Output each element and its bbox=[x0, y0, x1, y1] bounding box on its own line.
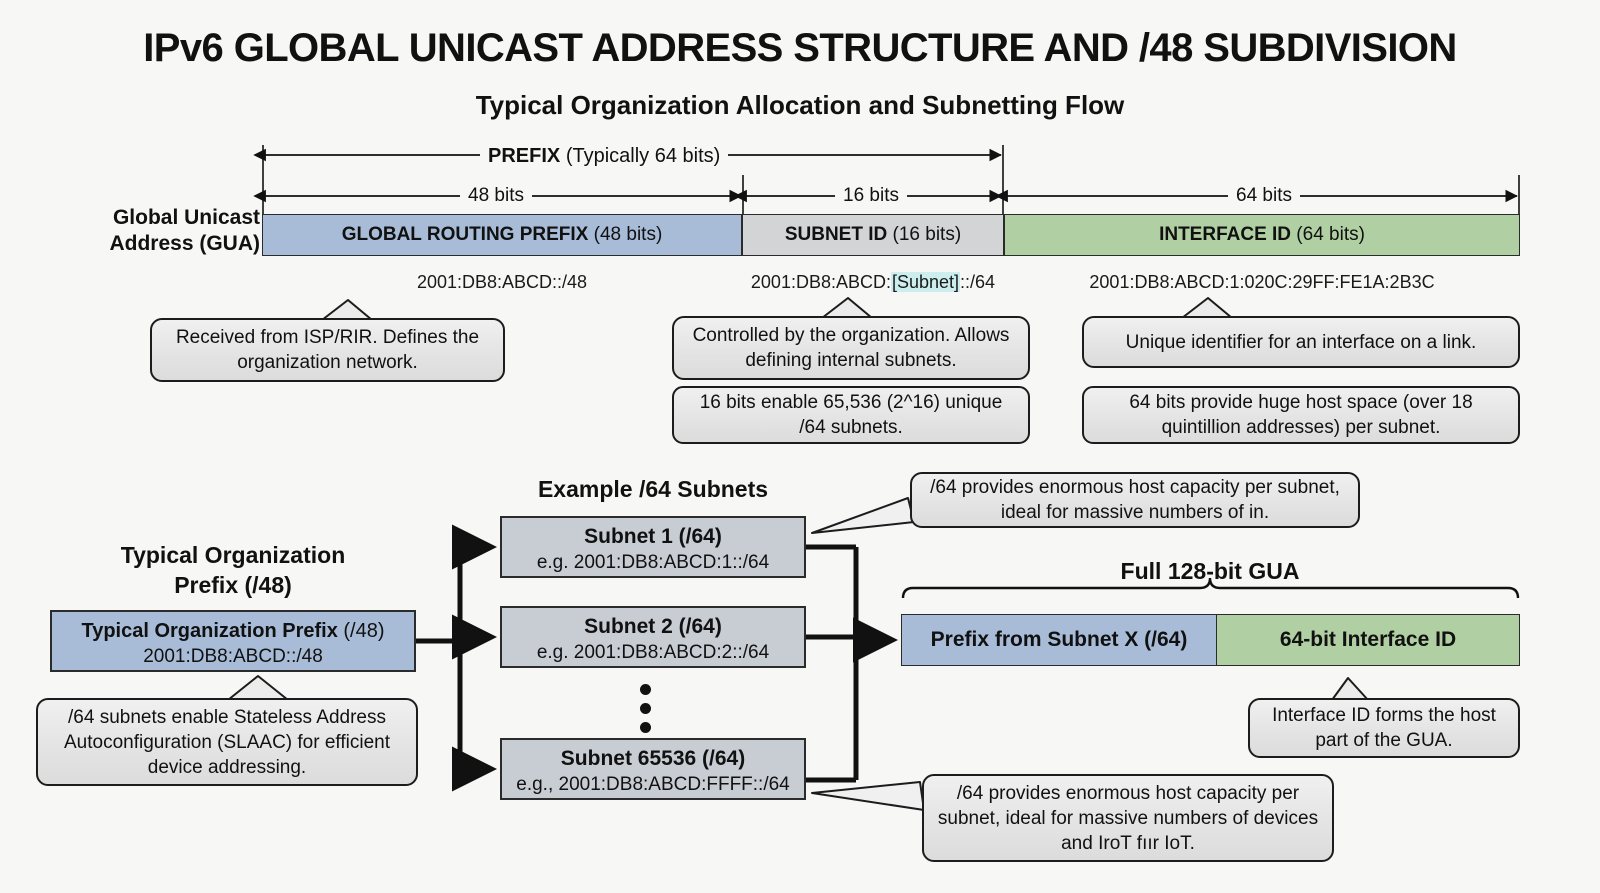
address-subnet-suffix: ::/64 bbox=[960, 272, 995, 292]
page-subtitle: Typical Organization Allocation and Subn… bbox=[0, 90, 1600, 121]
subnet-node-65536[interactable]: Subnet 65536 (/64) e.g., 2001:DB8:ABCD:F… bbox=[500, 738, 806, 800]
full-gua-prefix-segment[interactable]: Prefix from Subnet X (/64) bbox=[901, 614, 1217, 666]
callout-interface-host-part: Interface ID forms the host part of the … bbox=[1248, 698, 1520, 758]
example-subnets-title: Example /64 Subnets bbox=[500, 476, 806, 503]
subnet-node-title: Subnet 2 (/64) bbox=[502, 614, 804, 640]
field-label-bold: SUBNET ID bbox=[785, 224, 887, 245]
callout-subnet-id-control: Controlled by the organization. Allows d… bbox=[672, 316, 1030, 380]
gua-row-label-line2: Address (GUA) bbox=[60, 231, 260, 257]
full-gua-title: Full 128-bit GUA bbox=[900, 558, 1520, 585]
callout-interface-id-space: 64 bits provide huge host space (over 18… bbox=[1082, 386, 1520, 444]
address-subnet-prefix: 2001:DB8:ABCD: bbox=[751, 272, 891, 292]
address-subnet-placeholder: [Subnet] bbox=[891, 272, 960, 292]
callout-subnet-capacity-top: /64 provides enormous host capacity per … bbox=[910, 472, 1360, 528]
callout-slaac: /64 subnets enable Stateless Address Aut… bbox=[36, 698, 418, 786]
subnet-node-address: e.g., 2001:DB8:ABCD:FFFF::/64 bbox=[502, 772, 804, 797]
address-global-routing-prefix: 2001:DB8:ABCD::/48 bbox=[262, 272, 742, 293]
subnet-node-address: e.g. 2001:DB8:ABCD:1::/64 bbox=[502, 550, 804, 575]
diagram-canvas: IPv6 GLOBAL UNICAST ADDRESS STRUCTURE AN… bbox=[0, 0, 1600, 893]
field-label-bold: INTERFACE ID bbox=[1159, 224, 1291, 245]
org-prefix-title-line1: Typical Organization bbox=[50, 540, 416, 570]
dim-prefix-label: PREFIX (Typically 64 bits) bbox=[480, 145, 728, 168]
gua-row-label: Global Unicast Address (GUA) bbox=[60, 205, 260, 257]
field-subnet-id[interactable]: SUBNET ID (16 bits) bbox=[742, 214, 1004, 256]
full-gua-interface-segment[interactable]: 64-bit Interface ID bbox=[1217, 614, 1520, 666]
address-subnet-id: 2001:DB8:ABCD:[Subnet]::/64 bbox=[700, 272, 1046, 293]
field-label-bold: GLOBAL ROUTING PREFIX bbox=[342, 224, 589, 245]
callout-subnet-capacity-bottom: /64 provides enormous host capacity per … bbox=[922, 774, 1334, 862]
org-prefix-node[interactable]: Typical Organization Prefix (/48) 2001:D… bbox=[50, 610, 416, 672]
dim-64bits: 64 bits bbox=[1228, 185, 1300, 207]
callout-subnet-id-count: 16 bits enable 65,536 (2^16) unique /64 … bbox=[672, 386, 1030, 444]
org-prefix-title-line2: Prefix (/48) bbox=[50, 570, 416, 600]
page-title: IPv6 GLOBAL UNICAST ADDRESS STRUCTURE AN… bbox=[0, 26, 1600, 71]
field-label-thin: (48 bits) bbox=[594, 224, 663, 245]
subnet-node-title: Subnet 65536 (/64) bbox=[502, 746, 804, 772]
dim-16bits: 16 bits bbox=[835, 185, 907, 207]
dim-48bits: 48 bits bbox=[460, 185, 532, 207]
field-label-thin: (64 bits) bbox=[1296, 224, 1365, 245]
callout-interface-id-unique: Unique identifier for an interface on a … bbox=[1082, 316, 1520, 368]
subnet-node-title: Subnet 1 (/64) bbox=[502, 524, 804, 550]
subnet-node-1[interactable]: Subnet 1 (/64) e.g. 2001:DB8:ABCD:1::/64 bbox=[500, 516, 806, 578]
field-label-thin: (16 bits) bbox=[893, 224, 962, 245]
subnet-node-address: e.g. 2001:DB8:ABCD:2::/64 bbox=[502, 640, 804, 665]
subnet-node-2[interactable]: Subnet 2 (/64) e.g. 2001:DB8:ABCD:2::/64 bbox=[500, 606, 806, 668]
org-prefix-title: Typical Organization Prefix (/48) bbox=[50, 540, 416, 600]
field-global-routing-prefix[interactable]: GLOBAL ROUTING PREFIX (48 bits) bbox=[262, 214, 742, 256]
gua-row-label-line1: Global Unicast bbox=[60, 205, 260, 231]
address-interface-id: 2001:DB8:ABCD:1:020C:29FF:FE1A:2B3C bbox=[1004, 272, 1520, 293]
org-prefix-node-address: 2001:DB8:ABCD::/48 bbox=[52, 644, 414, 669]
org-prefix-node-label: Typical Organization Prefix (/48) bbox=[52, 618, 414, 644]
ellipsis-dots bbox=[640, 684, 654, 741]
callout-global-routing-prefix: Received from ISP/RIR. Defines the organ… bbox=[150, 318, 505, 382]
field-interface-id[interactable]: INTERFACE ID (64 bits) bbox=[1004, 214, 1520, 256]
